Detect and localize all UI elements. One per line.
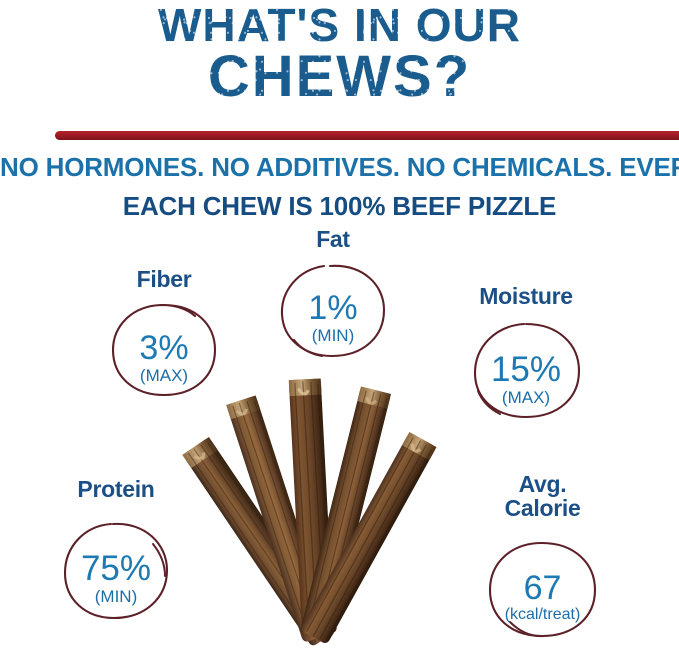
stat-value-fiber: 3% <box>103 331 225 365</box>
stat-badge-fiber: Fiber 3% (MAX) <box>103 268 225 400</box>
stat-badge-moisture: Moisture 15% (MAX) <box>462 285 590 421</box>
page-title-line-1: WHAT'S IN OUR <box>0 2 679 48</box>
stat-label-fat: Fat <box>272 228 394 252</box>
stat-label-protein: Protein <box>55 478 177 502</box>
infographic-canvas: WHAT'S IN OUR CHEWS? NO HORMONES. NO ADD… <box>0 0 679 659</box>
stat-value-group-avg-calorie: 67 (kcal/treat) <box>480 571 605 623</box>
page-title-line-2: CHEWS? <box>0 48 679 106</box>
stat-label-fiber: Fiber <box>103 268 225 292</box>
stat-badge-fat: Fat 1% (MIN) <box>272 228 394 360</box>
header: WHAT'S IN OUR CHEWS? <box>0 0 679 128</box>
stat-value-group-moisture: 15% (MAX) <box>462 352 590 406</box>
stat-unit-avg-calorie: (kcal/treat) <box>480 607 605 623</box>
stat-unit-fat: (MIN) <box>272 327 394 344</box>
stat-unit-moisture: (MAX) <box>462 389 590 406</box>
stat-unit-protein: (MIN) <box>55 588 177 605</box>
stat-value-group-fiber: 3% (MAX) <box>103 331 225 384</box>
stat-badge-protein: Protein 75% (MIN) <box>55 478 177 623</box>
stat-value-protein: 75% <box>55 551 177 586</box>
subheading-ingredient: EACH CHEW IS 100% BEEF PIZZLE <box>0 193 679 219</box>
stat-unit-fiber: (MAX) <box>103 367 225 384</box>
stat-value-moisture: 15% <box>462 352 590 387</box>
stat-value-avg-calorie: 67 <box>480 571 605 605</box>
stat-label-moisture: Moisture <box>462 285 590 309</box>
stat-value-group-protein: 75% (MIN) <box>55 551 177 605</box>
subheading-claims: NO HORMONES. NO ADDITIVES. NO CHEMICALS.… <box>0 154 679 180</box>
stat-label-avg-calorie: Avg. Calorie <box>480 473 605 521</box>
stat-badge-avg-calorie: Avg. Calorie 67 (kcal/treat) <box>480 473 605 641</box>
beef-pizzle-chew-sticks-image <box>150 375 480 659</box>
stat-value-fat: 1% <box>272 291 394 325</box>
stat-value-group-fat: 1% (MIN) <box>272 291 394 344</box>
red-divider-rule <box>55 131 679 140</box>
